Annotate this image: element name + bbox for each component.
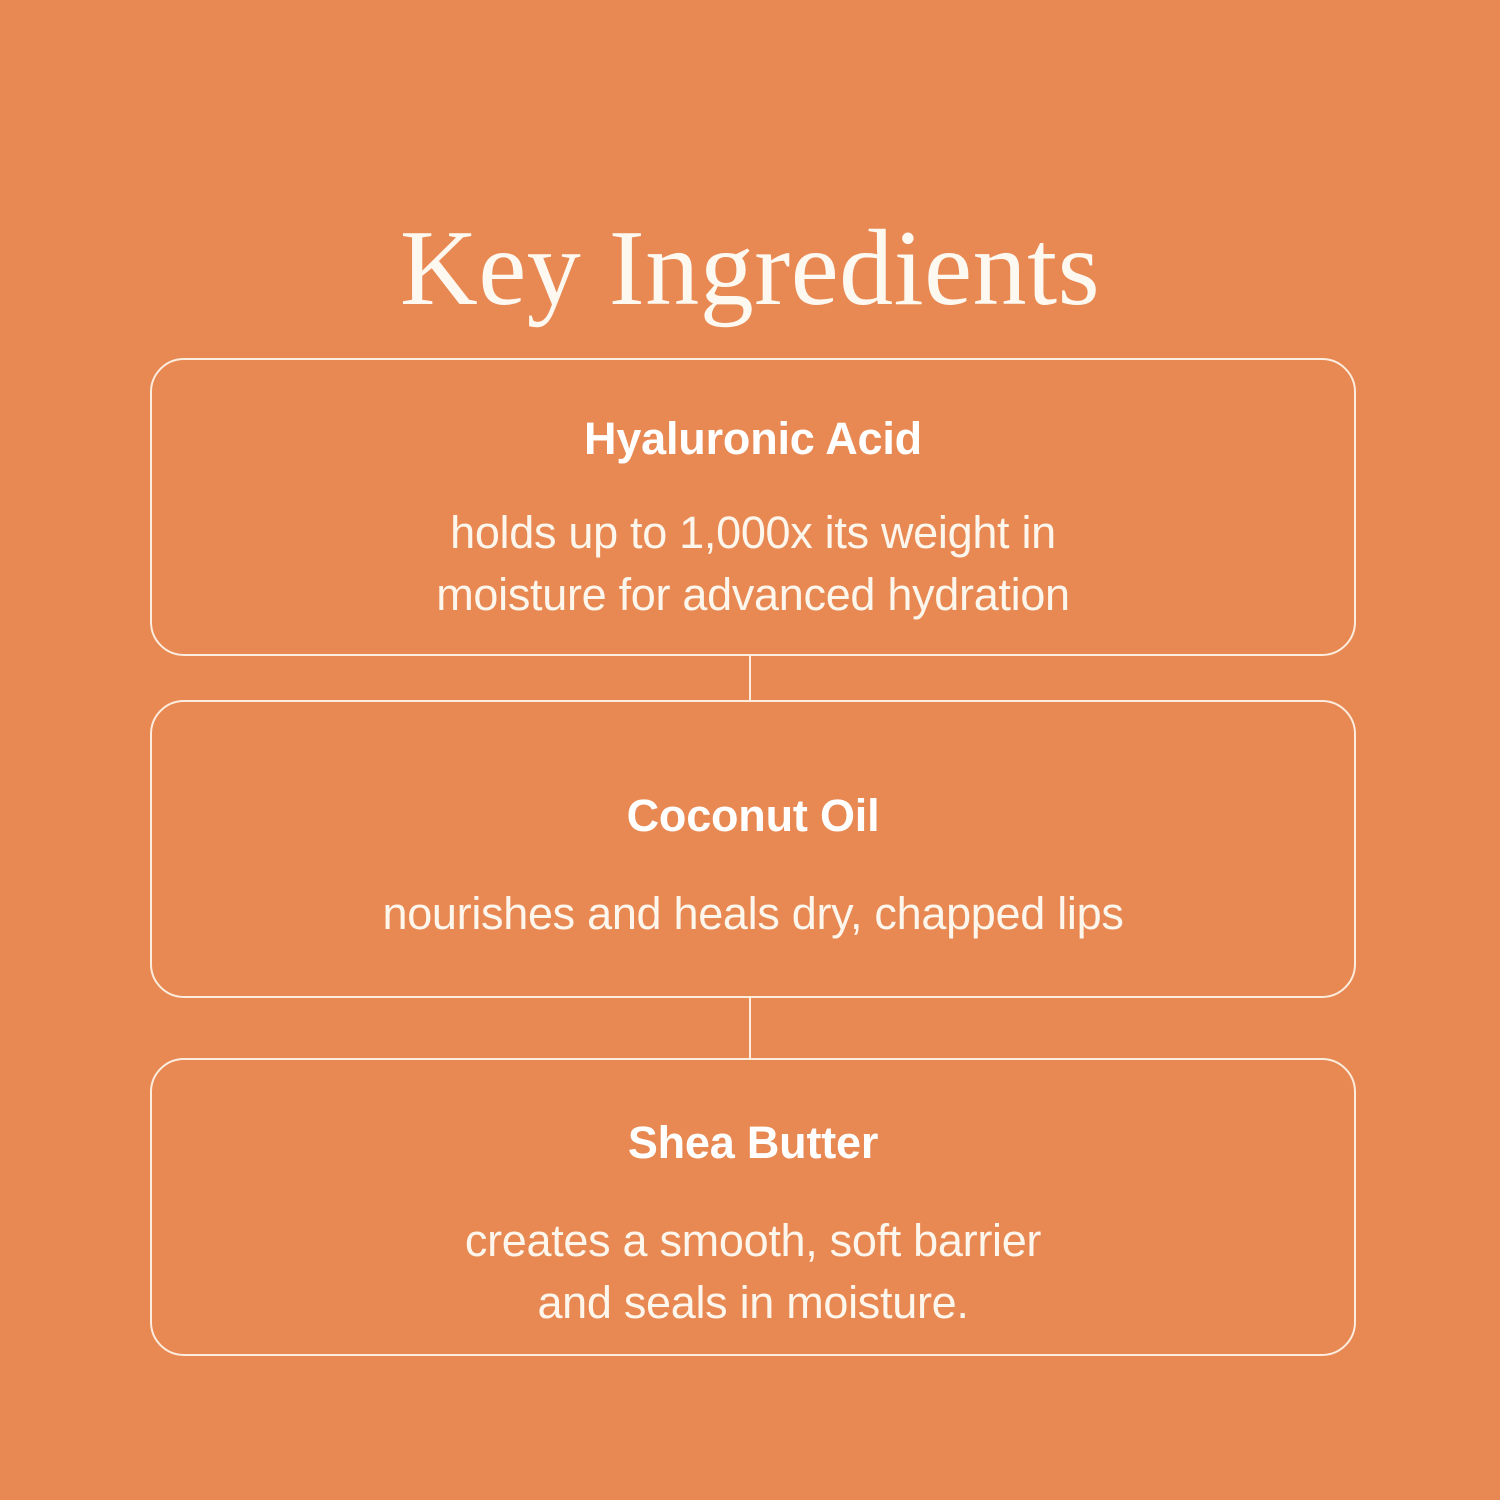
ingredient-description: creates a smooth, soft barrier and seals…	[465, 1170, 1041, 1334]
ingredient-name: Hyaluronic Acid	[584, 360, 922, 466]
ingredient-description: holds up to 1,000x its weight in moistur…	[436, 466, 1070, 626]
ingredient-name: Shea Butter	[628, 1060, 878, 1170]
card-connector-line	[749, 656, 751, 700]
page-title: Key Ingredients	[0, 210, 1500, 329]
ingredient-description: nourishes and heals dry, chapped lips	[382, 843, 1123, 945]
ingredient-card-hyaluronic-acid: Hyaluronic Acid holds up to 1,000x its w…	[150, 358, 1356, 656]
card-connector-line	[749, 998, 751, 1058]
ingredient-name: Coconut Oil	[627, 702, 880, 843]
ingredient-card-shea-butter: Shea Butter creates a smooth, soft barri…	[150, 1058, 1356, 1356]
key-ingredients-poster: Key Ingredients Hyaluronic Acid holds up…	[0, 0, 1500, 1500]
ingredient-card-coconut-oil: Coconut Oil nourishes and heals dry, cha…	[150, 700, 1356, 998]
ingredient-card-stack: Hyaluronic Acid holds up to 1,000x its w…	[150, 358, 1356, 1356]
